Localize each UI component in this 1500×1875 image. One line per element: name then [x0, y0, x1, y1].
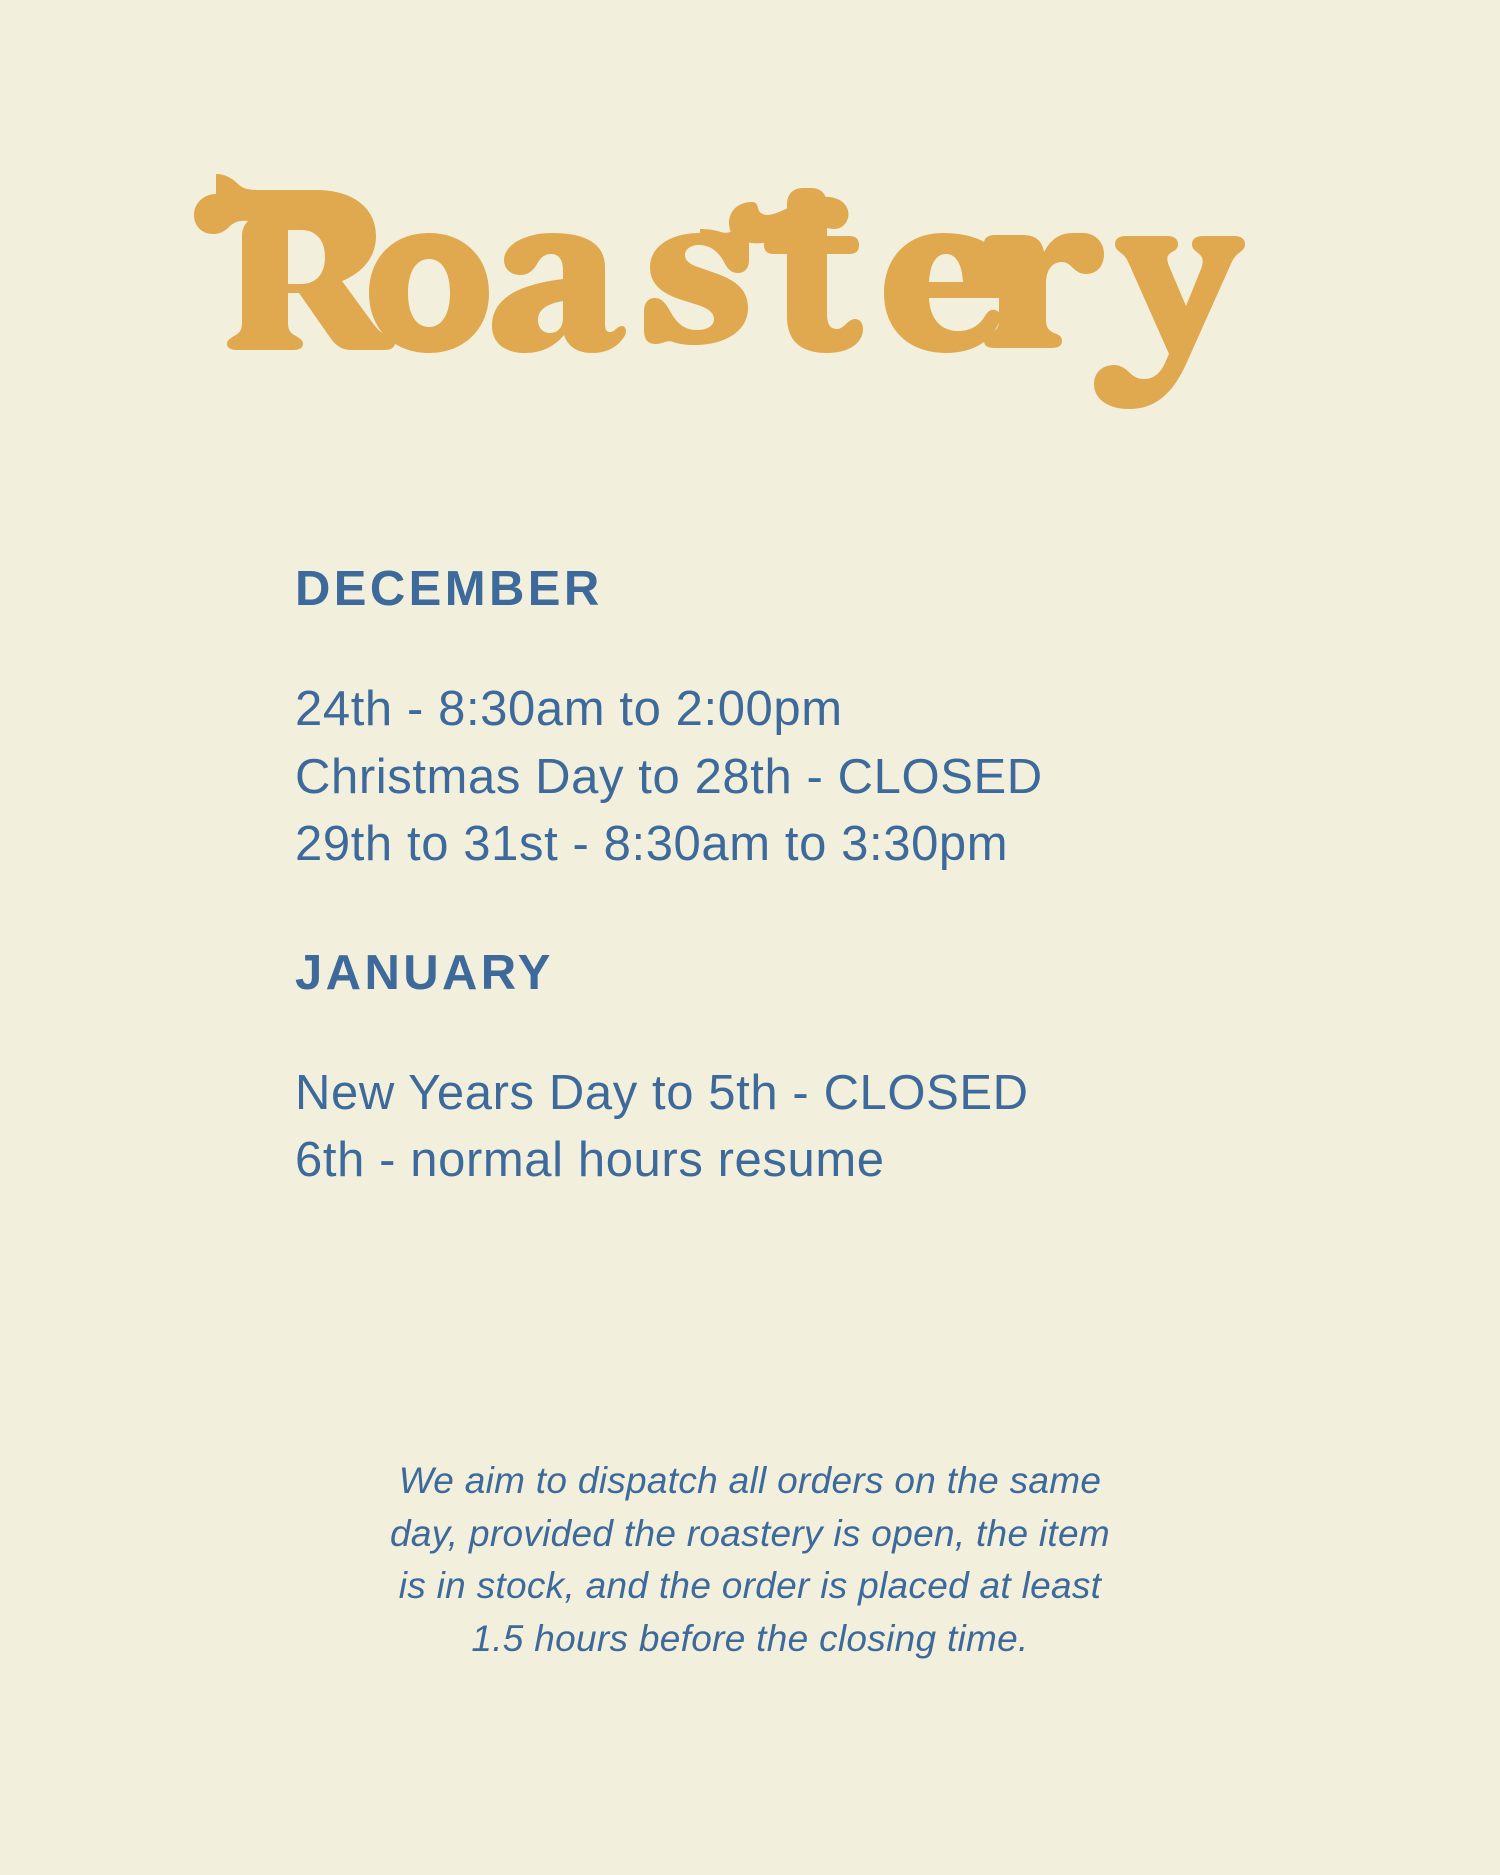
section-heading-december: DECEMBER	[295, 565, 1295, 614]
note-line: is in stock, and the order is placed at …	[250, 1560, 1250, 1613]
roastery-wordmark-icon	[194, 174, 1245, 409]
section-heading-january: JANUARY	[295, 949, 1295, 998]
roastery-logo	[180, 160, 880, 360]
hours-line: 29th to 31st - 8:30am to 3:30pm	[295, 811, 1295, 879]
hours-content: DECEMBER 24th - 8:30am to 2:00pm Christm…	[295, 565, 1295, 1195]
hours-line: 6th - normal hours resume	[295, 1127, 1295, 1195]
holiday-hours-poster: DECEMBER 24th - 8:30am to 2:00pm Christm…	[0, 0, 1500, 1875]
spacer	[295, 614, 1295, 676]
hours-line: 24th - 8:30am to 2:00pm	[295, 676, 1295, 744]
note-line: day, provided the roastery is open, the …	[250, 1508, 1250, 1561]
december-hours-list: 24th - 8:30am to 2:00pm Christmas Day to…	[295, 676, 1295, 879]
january-hours-list: New Years Day to 5th - CLOSED 6th - norm…	[295, 1060, 1295, 1195]
spacer	[295, 879, 1295, 949]
note-line: We aim to dispatch all orders on the sam…	[250, 1455, 1250, 1508]
hours-line: Christmas Day to 28th - CLOSED	[295, 744, 1295, 812]
spacer	[295, 998, 1295, 1060]
dispatch-note: We aim to dispatch all orders on the sam…	[250, 1455, 1250, 1665]
note-line: 1.5 hours before the closing time.	[250, 1613, 1250, 1666]
hours-line: New Years Day to 5th - CLOSED	[295, 1060, 1295, 1128]
